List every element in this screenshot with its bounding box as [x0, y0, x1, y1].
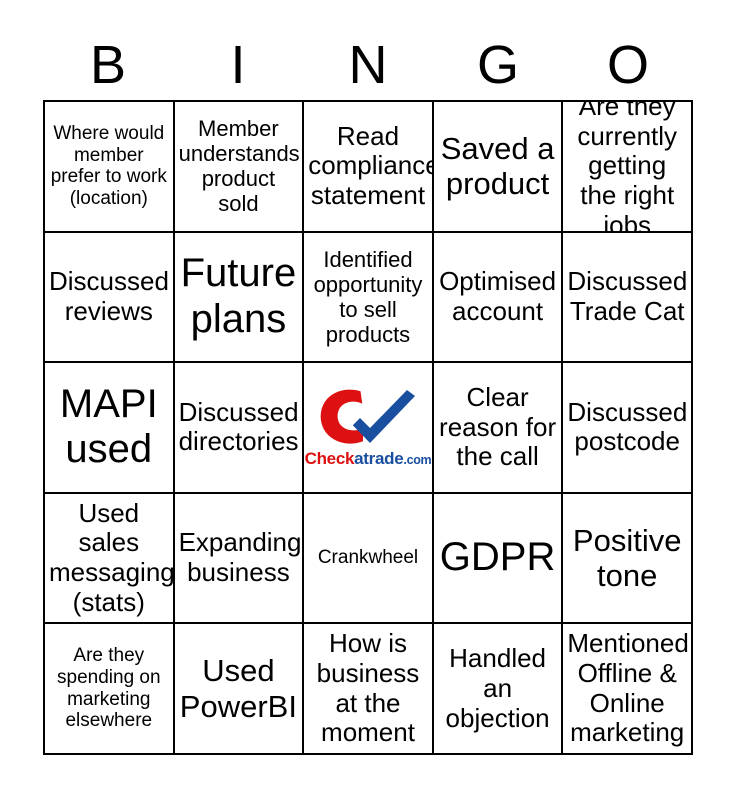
bingo-cell-label: Handled an objection: [438, 644, 558, 733]
bingo-cell-label: Crankwheel: [308, 547, 428, 569]
bingo-cell-label: Discussed postcode: [567, 398, 687, 457]
bingo-cell[interactable]: Discussed Trade Cat: [563, 233, 693, 364]
bingo-cell-label: Where would member prefer to work (locat…: [49, 123, 169, 210]
bingo-cell-label: Saved a product: [438, 131, 558, 202]
checkatrade-c-checkmark-icon: [316, 387, 420, 449]
bingo-cell-label: Positive tone: [567, 523, 687, 594]
bingo-cell-label: Used sales messaging (stats): [49, 499, 169, 618]
wordmark-check: Check: [305, 449, 355, 468]
bingo-cell[interactable]: GDPR: [434, 494, 564, 625]
bingo-cell[interactable]: Mentioned Offline & Online marketing: [563, 624, 693, 755]
header-letter-i: I: [173, 34, 303, 96]
bingo-cell[interactable]: Expanding business: [175, 494, 305, 625]
bingo-cell-label: Used PowerBI: [179, 653, 299, 724]
bingo-card: B I N G O Where would member prefer to w…: [0, 0, 736, 800]
bingo-cell-label: Read compliance statement: [308, 122, 428, 211]
bingo-cell-label: Member understands product sold: [179, 116, 299, 216]
bingo-cell[interactable]: Are they spending on marketing elsewhere: [45, 624, 175, 755]
bingo-cell-label: How is business at the moment: [308, 629, 428, 748]
bingo-cell[interactable]: Clear reason for the call: [434, 363, 564, 494]
bingo-cell-label: Optimised account: [438, 267, 558, 326]
bingo-cell-label: Expanding business: [179, 528, 299, 587]
bingo-cell-label: Mentioned Offline & Online marketing: [567, 629, 687, 748]
header-letter-b: B: [43, 34, 173, 96]
bingo-cell[interactable]: Used PowerBI: [175, 624, 305, 755]
bingo-cell-label: Are they spending on marketing elsewhere: [49, 645, 169, 732]
checkatrade-wordmark: Checkatrade.com: [305, 450, 432, 467]
bingo-cell-label: Discussed Trade Cat: [567, 267, 687, 326]
bingo-cell-label: GDPR: [438, 535, 558, 581]
bingo-cell[interactable]: Discussed postcode: [563, 363, 693, 494]
bingo-cell[interactable]: Saved a product: [434, 102, 564, 233]
bingo-cell[interactable]: Positive tone: [563, 494, 693, 625]
bingo-cell[interactable]: Used sales messaging (stats): [45, 494, 175, 625]
bingo-grid: Where would member prefer to work (locat…: [43, 100, 693, 755]
bingo-cell-label: MAPI used: [49, 382, 169, 473]
bingo-cell[interactable]: Discussed directories: [175, 363, 305, 494]
bingo-cell-label: Future plans: [179, 251, 299, 342]
bingo-header: B I N G O: [43, 34, 693, 96]
bingo-cell[interactable]: Read compliance statement: [304, 102, 434, 233]
header-letter-o: O: [563, 34, 693, 96]
header-letter-g: G: [433, 34, 563, 96]
bingo-cell[interactable]: Discussed reviews: [45, 233, 175, 364]
bingo-cell[interactable]: Where would member prefer to work (locat…: [45, 102, 175, 233]
bingo-cell[interactable]: Future plans: [175, 233, 305, 364]
header-letter-n: N: [303, 34, 433, 96]
bingo-cell-label: Discussed reviews: [49, 267, 169, 326]
bingo-cell[interactable]: Crankwheel: [304, 494, 434, 625]
bingo-cell-label: Are they currently getting the right job…: [567, 102, 687, 233]
wordmark-atrade: atrade: [354, 449, 403, 468]
bingo-cell-label: Identified opportunity to sell products: [308, 247, 428, 347]
bingo-cell[interactable]: Identified opportunity to sell products: [304, 233, 434, 364]
bingo-cell[interactable]: Handled an objection: [434, 624, 564, 755]
bingo-cell[interactable]: Are they currently getting the right job…: [563, 102, 693, 233]
bingo-cell[interactable]: Member understands product sold: [175, 102, 305, 233]
bingo-cell[interactable]: How is business at the moment: [304, 624, 434, 755]
bingo-cell[interactable]: Optimised account: [434, 233, 564, 364]
bingo-cell-label: Clear reason for the call: [438, 383, 558, 472]
bingo-cell[interactable]: MAPI used: [45, 363, 175, 494]
bingo-cell-label: Discussed directories: [179, 398, 299, 457]
wordmark-com: .com: [403, 453, 431, 467]
bingo-free-space-logo-cell[interactable]: Checkatrade.com: [304, 363, 434, 494]
